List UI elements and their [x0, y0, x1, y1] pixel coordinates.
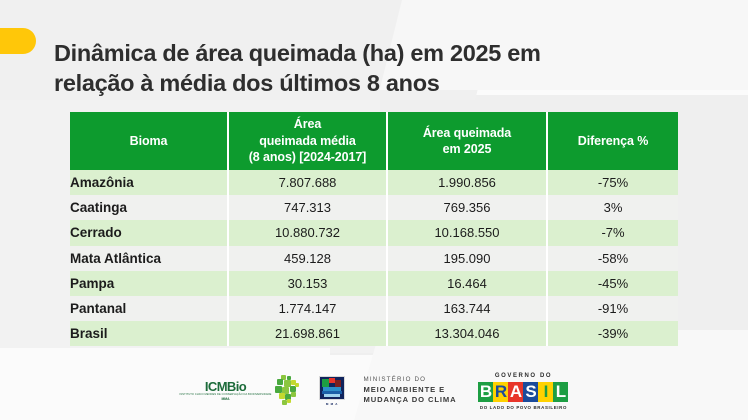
cell-2025: 195.090 [387, 246, 547, 271]
table-row: Pantanal 1.774.147 163.744 -91% [70, 296, 678, 321]
cell-diferenca: -58% [547, 246, 678, 271]
cell-2025: 163.744 [387, 296, 547, 321]
burned-area-table: Bioma Área queimada média (8 anos) [2024… [70, 112, 678, 346]
footer-logo-bar: ICMBio INSTITUTO CHICO MENDES DE CONSERV… [0, 368, 748, 414]
ministry-line-3: MUDANÇA DO CLIMA [363, 395, 456, 406]
table-row: Pampa 30.153 16.464 -45% [70, 271, 678, 296]
cell-media: 459.128 [228, 246, 387, 271]
table-row: Mata Atlântica 459.128 195.090 -58% [70, 246, 678, 271]
cell-2025: 1.990.856 [387, 170, 547, 195]
cell-diferenca: -7% [547, 220, 678, 245]
column-header-bioma: Bioma [70, 112, 228, 170]
cell-diferenca: -45% [547, 271, 678, 296]
cell-media: 1.774.147 [228, 296, 387, 321]
icmbio-logo: ICMBio INSTITUTO CHICO MENDES DE CONSERV… [180, 375, 303, 407]
table-header: Bioma Área queimada média (8 anos) [2024… [70, 112, 678, 170]
brasil-letter-r: R [493, 382, 508, 402]
ministry-wordmark: MINISTÉRIO DO MEIO AMBIENTE E MUDANÇA DO… [363, 376, 456, 406]
brasil-letter-s: S [523, 382, 538, 402]
cell-diferenca: -91% [547, 296, 678, 321]
table-row: Amazônia 7.807.688 1.990.856 -75% [70, 170, 678, 195]
table-header-row: Bioma Área queimada média (8 anos) [2024… [70, 112, 678, 170]
cell-2025: 13.304.046 [387, 321, 547, 346]
icmbio-tagline-text: MMA [221, 398, 229, 401]
brazil-map-icon [272, 375, 302, 407]
accent-pill-icon [0, 28, 36, 54]
column-header-media: Área queimada média (8 anos) [2024-2017] [228, 112, 387, 170]
ministry-line-1: MINISTÉRIO DO [363, 376, 456, 385]
cell-diferenca: 3% [547, 195, 678, 220]
column-header-diferenca: Diferença % [547, 112, 678, 170]
cell-bioma: Caatinga [70, 195, 228, 220]
cell-bioma: Brasil [70, 321, 228, 346]
table-row: Brasil 21.698.861 13.304.046 -39% [70, 321, 678, 346]
governo-do-brasil-logo: GOVERNO DO B R A S I L DO LADO DO POVO B… [478, 373, 568, 410]
cell-bioma: Mata Atlântica [70, 246, 228, 271]
cell-diferenca: -39% [547, 321, 678, 346]
cell-bioma: Amazônia [70, 170, 228, 195]
gov-top-text: GOVERNO DO [495, 373, 552, 379]
ministry-line-2: MEIO AMBIENTE E [363, 385, 456, 396]
cell-2025: 769.356 [387, 195, 547, 220]
icmbio-name-text: ICMBio [205, 380, 246, 393]
cell-media: 30.153 [228, 271, 387, 296]
brasil-wordmark-icon: B R A S I L [478, 381, 568, 402]
icmbio-wordmark: ICMBio INSTITUTO CHICO MENDES DE CONSERV… [180, 380, 272, 402]
mma-label-text: M M A [326, 402, 338, 406]
cell-bioma: Pantanal [70, 296, 228, 321]
table-row: Cerrado 10.880.732 10.168.550 -7% [70, 220, 678, 245]
table-row: Caatinga 747.313 769.356 3% [70, 195, 678, 220]
brasil-letter-a: A [508, 382, 523, 402]
page-title: Dinâmica de área queimada (ha) em 2025 e… [54, 38, 541, 98]
cell-media: 7.807.688 [228, 170, 387, 195]
table-body: Amazônia 7.807.688 1.990.856 -75% Caatin… [70, 170, 678, 346]
title-block: Dinâmica de área queimada (ha) em 2025 e… [0, 22, 748, 114]
brasil-letter-b: B [478, 382, 493, 402]
cell-2025: 10.168.550 [387, 220, 547, 245]
column-header-2025: Área queimada em 2025 [387, 112, 547, 170]
cell-media: 747.313 [228, 195, 387, 220]
brasil-letter-l: L [553, 382, 568, 402]
cell-diferenca: -75% [547, 170, 678, 195]
gov-bottom-text: DO LADO DO POVO BRASILEIRO [480, 405, 567, 410]
cell-bioma: Pampa [70, 271, 228, 296]
cell-bioma: Cerrado [70, 220, 228, 245]
cell-media: 10.880.732 [228, 220, 387, 245]
mma-emblem-icon [319, 376, 345, 400]
mma-logo: M M A [318, 376, 345, 407]
brasil-letter-i: I [538, 382, 553, 402]
cell-media: 21.698.861 [228, 321, 387, 346]
cell-2025: 16.464 [387, 271, 547, 296]
